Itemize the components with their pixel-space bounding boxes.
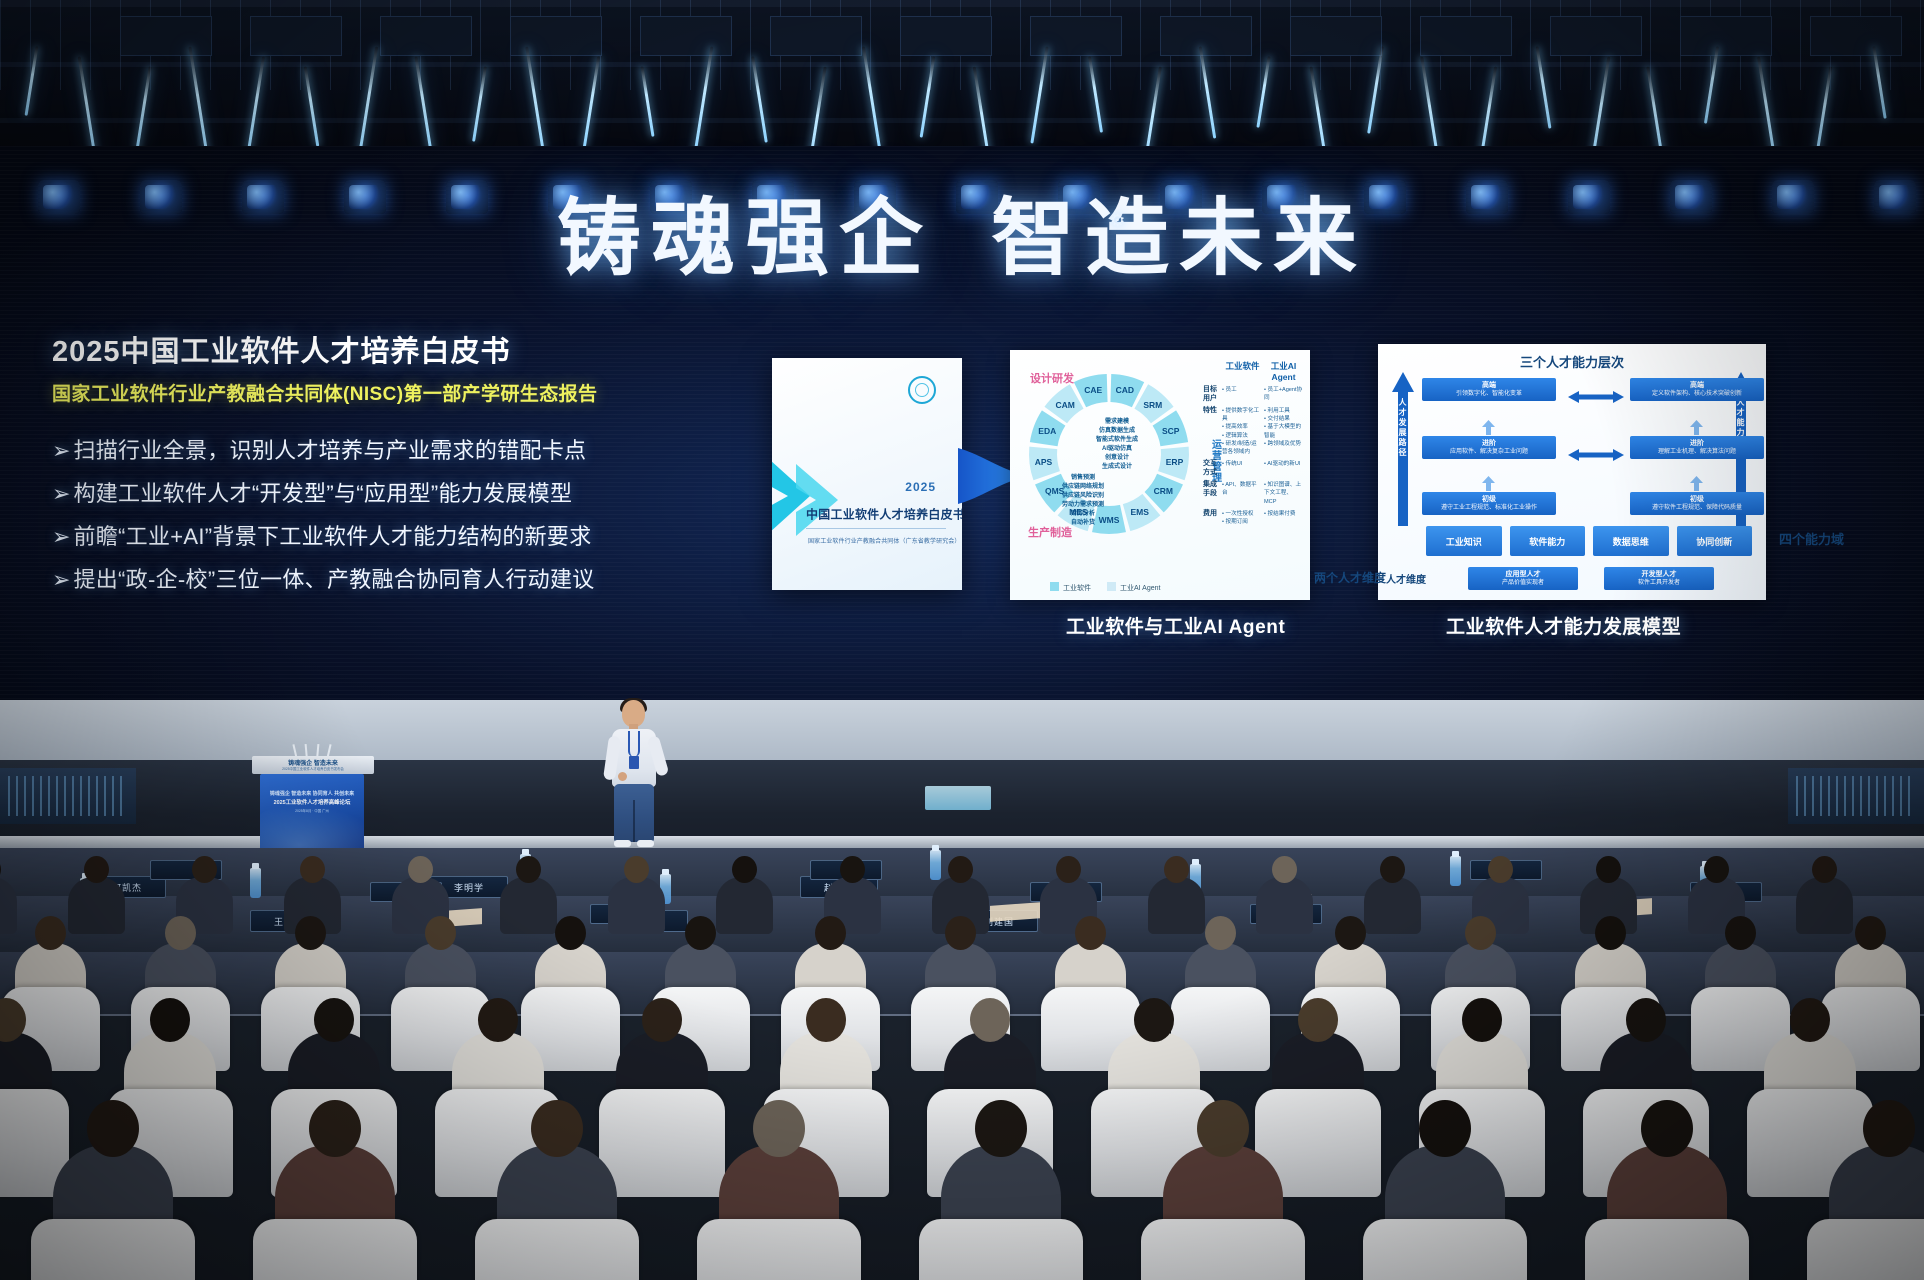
audience-chair [31,1219,195,1280]
audience-head [1298,998,1338,1042]
four-capability-label: 四个能力域 [1779,529,1844,548]
audience-chair [697,1219,861,1280]
audience-head [1272,856,1297,883]
slide-bullet-text: 前瞻“工业+AI”背景下工业软件人才能力结构的新要求 [73,522,591,552]
speaker-badge [629,756,639,769]
slide-title: 2025中国工业软件人才培养白皮书 [52,328,612,370]
compare-column-header: 工业AI Agent [1263,360,1304,382]
audience-chair [1141,1219,1305,1280]
audience-head [1488,856,1513,883]
tier-right: 初级遵守软件工程规范、保障代码质量 [1630,492,1764,515]
audience-head [1462,998,1502,1042]
donut-segment-label: APS [1032,457,1054,467]
audience-head [1380,856,1405,883]
tier-desc: 应用软件、解决复杂工业问题 [1424,448,1554,456]
slide-bullet: ➢构建工业软件人才“开发型”与“应用型”能力发展模型 [52,479,612,509]
audience-head [1197,1100,1249,1157]
tier-level: 高端 [1632,381,1762,390]
tier-up-arrow-icon [1482,476,1495,491]
compare-row-key: 特性 [1200,407,1220,456]
figure-talent-capability-model: 三个人才能力层次 人才发展路径 人才能力维度 高端引领数字化、智能化变革进阶应用… [1378,344,1766,600]
slide-bullet-text: 扫描行业全景，识别人才培养与产业需求的错配卡点 [73,436,586,466]
figure-industrial-software-ai-agent: 设计研发 生产制造 运营管理 需求建模仿真数据生成智能式软件生成AI驱动仿真创意… [1010,350,1310,600]
audience-head [1134,998,1174,1042]
audience-chair [1363,1219,1527,1280]
capability-box: 协同创新 [1677,526,1753,556]
compare-cell-agent: • 员工+Agent协同 [1262,386,1304,403]
audience-head [1863,1100,1915,1157]
tier-left: 进阶应用软件、解决复杂工业问题 [1422,436,1556,459]
audience-head [1790,998,1830,1042]
audience-head [531,1100,583,1157]
audience-head [192,856,217,883]
capability-box: 数据思维 [1593,526,1669,556]
tier-desc: 定义软件架构、核心技术突破创新 [1632,390,1762,398]
capability-box: 软件能力 [1510,526,1586,556]
tier-desc: 遵守工业工程规范、标准化工业操作 [1424,504,1554,512]
stage-small-display [925,786,991,810]
audience-head [314,998,354,1042]
donut-legend-item: 工业AI Agent [1107,582,1160,593]
compare-row-key: 集成手段 [1200,481,1220,506]
whitepaper-book-cover: 2025 中国工业软件人才培养白皮书 国家工业软件行业产教融合共同体（广东省教学… [772,358,962,590]
audience-torso [608,877,665,934]
audience-area: 何凯杰王立坤李明学张文欢赵晓宇刘建国 [0,848,1924,1280]
capability-model-title: 三个人才能力层次 [1378,352,1766,371]
tier-right: 高端定义软件架构、核心技术突破创新 [1630,378,1764,401]
ceiling-truss [0,0,1924,150]
tier-level: 进阶 [1424,439,1554,448]
audience-head [975,1100,1027,1157]
donut-legend: 工业软件工业AI Agent [1050,582,1160,593]
slide-bullet-text: 构建工业软件人才“开发型”与“应用型”能力发展模型 [73,479,572,509]
audience-head [642,998,682,1042]
speaker-lanyard [628,731,640,757]
compare-row: 集成手段• API、数据平台• 知识图谱、上下文工程、MCP [1200,481,1304,506]
name-card-text: 李明学 [454,881,484,894]
figure-b-caption: 工业软件人才能力发展模型 [1446,612,1681,639]
speaker-head [622,700,645,727]
donut-segment-label: CAM [1054,400,1076,410]
presentation-slide: 2025中国工业软件人才培养白皮书 国家工业软件行业产教融合共同体(NISC)第… [0,300,1924,720]
slide-bullet: ➢提出“政-企-校”三位一体、产教融合协同育人行动建议 [52,565,612,595]
compare-cell-software: • 传统UI [1220,460,1262,477]
compare-row: 目标用户• 员工• 员工+Agent协同 [1200,386,1304,403]
talent-dimension-row: 人才维度 应用型人才产品价值实现者开发型人才软件工具开发者 [1386,564,1752,592]
stage-side-panel-left [0,768,136,824]
talent-dimension-box: 开发型人才软件工具开发者 [1604,567,1714,590]
tier-right: 进阶理解工业机理、解决算法问题 [1630,436,1764,459]
compare-row: 特性• 提供数字化工具• 提高效率• 逻辑算法• 研发/制造/运营各领域内• 利… [1200,407,1304,456]
bullet-arrow-icon: ➢ [52,522,70,552]
talent-dimension-box: 应用型人才产品价值实现者 [1468,567,1578,590]
dimension-name: 开发型人才 [1604,570,1714,579]
compare-row-key: 目标用户 [1200,386,1220,403]
speaker-on-stage [598,700,670,850]
audience-torso [1256,877,1313,934]
compare-cell-agent: • 知识图谱、上下文工程、MCP [1262,481,1304,506]
donut-legend-item: 工业软件 [1050,582,1091,593]
donut-segment-label: CRM [1152,486,1174,496]
compare-cell-agent: • 利用工具• 交付结果• 基于大模型的智能• 跨领域及优势 [1262,407,1304,456]
donut-segment-label: EDA [1036,426,1058,436]
podium-line-3: 2025年8月 · 中国 广州 [260,808,364,813]
audience-head [1812,856,1837,883]
figure-a-caption: 工业软件与工业AI Agent [1066,612,1285,639]
dimension-row-label: 人才维度 [1386,571,1442,586]
tier-desc: 理解工业机理、解决算法问题 [1632,448,1762,456]
tier-left: 初级遵守工业工程规范、标准化工业操作 [1422,492,1556,515]
audience-head [753,1100,805,1157]
slide-bullet: ➢前瞻“工业+AI”背景下工业软件人才能力结构的新要求 [52,522,612,552]
stage-side-panel-right [1788,768,1924,824]
slide-subtitle: 国家工业软件行业产教融合共同体(NISC)第一部产学研生态报告 [52,379,612,406]
tier-left: 高端引领数字化、智能化变革 [1422,378,1556,401]
book-year: 2025 [905,480,936,494]
tier-up-arrow-icon [1690,476,1703,491]
conference-stage-photo: 铸魂强企 智造未来 ⚙ 2025中国工业软件人才培养白皮书 国家工业软件行业产教… [0,0,1924,1280]
dimension-desc: 软件工具开发者 [1604,579,1714,587]
donut-segment-label: ERP [1164,457,1186,467]
audience-head [1419,1100,1471,1157]
podium-top-subtitle: 2025中国工业软件人才培养白皮书发布会 [252,766,374,771]
donut-segment-label: MES [1067,507,1089,517]
audience-head [1704,856,1729,883]
gear-icon: ⚙ [1110,212,1127,229]
compare-cell-software: • 提供数字化工具• 提高效率• 逻辑算法• 研发/制造/运营各领域内 [1220,407,1262,456]
axis-development-path: 人才发展路径 [1392,372,1414,526]
water-bottle [1450,856,1461,886]
tier-level: 初级 [1632,495,1762,504]
donut-segment-label: WMS [1098,515,1120,525]
headline-right: 智造未来 [991,196,1367,280]
audience-head [300,856,325,883]
dimension-name: 应用型人才 [1468,570,1578,579]
audience-member [608,856,665,940]
compare-column-header: 工业软件 [1222,360,1263,382]
audience-head [478,998,518,1042]
audience-chair [1585,1219,1749,1280]
donut-segment-label: CAD [1114,385,1136,395]
compare-cell-agent: • AI驱动的新UI [1262,460,1304,477]
donut-segment-label: QMS [1044,486,1066,496]
audience-head [806,998,846,1042]
tier-desc: 遵守软件工程规范、保障代码质量 [1632,504,1762,512]
donut-segment-label: SRM [1142,400,1164,410]
capability-donut-chart: 设计研发 生产制造 运营管理 需求建模仿真数据生成智能式软件生成AI驱动仿真创意… [1016,356,1202,556]
audience-head [309,1100,361,1157]
tier-link-arrow-icon [1568,448,1624,460]
audience-chair [253,1219,417,1280]
audience-head [87,1100,139,1157]
compare-row-key: 交互方式 [1200,460,1220,477]
donut-label-design: 设计研发 [1030,370,1074,386]
book-organization: 国家工业软件行业产教融合共同体（广东省教学研究会） [808,536,948,545]
software-vs-agent-table: 工业软件工业AI Agent 目标用户• 员工• 员工+Agent协同特性• 提… [1200,360,1304,526]
compare-cell-software: • 一次性授权• 按期订阅 [1220,510,1262,526]
bullet-arrow-icon: ➢ [52,436,70,466]
tier-up-arrow-icon [1690,420,1703,435]
stage-headline: 铸魂强企 智造未来 [0,196,1924,280]
audience-head [624,856,649,883]
compare-cell-agent: • 按结果付费 [1262,510,1304,526]
compare-row: 费用• 一次性授权• 按期订阅• 按结果付费 [1200,510,1304,526]
audience-head [408,856,433,883]
audience-head [948,856,973,883]
bullet-arrow-icon: ➢ [52,479,70,509]
donut-core-design-text: 需求建模仿真数据生成智能式软件生成AI驱动仿真创意设计生成式设计 [1080,418,1154,472]
audience-head [840,856,865,883]
speaker-jeans [614,784,654,842]
two-dimension-label: 两个人才维度 [1314,569,1386,586]
slide-text-block: 2025中国工业软件人才培养白皮书 国家工业软件行业产教融合共同体(NISC)第… [52,328,612,608]
tier-level: 初级 [1424,495,1554,504]
dimension-desc: 产品价值实现者 [1468,579,1578,587]
audience-head [1596,856,1621,883]
slide-bullet-text: 提出“政-企-校”三位一体、产教融合协同育人行动建议 [73,565,594,595]
bullet-arrow-icon: ➢ [52,565,70,595]
audience-head [150,998,190,1042]
tier-level: 进阶 [1632,439,1762,448]
tier-level: 高端 [1424,381,1554,390]
slide-bullet: ➢扫描行业全景，识别人才培养与产业需求的错配卡点 [52,436,612,466]
compare-cell-software: • API、数据平台 [1220,481,1262,506]
water-bottle [250,868,261,898]
headline-left: 铸魂强企 [557,196,933,280]
audience-head [732,856,757,883]
donut-segment-label: EMS [1129,507,1151,517]
donut-segment-label: CAE [1082,385,1104,395]
seal-icon [908,376,936,404]
compare-row: 交互方式• 传统UI• AI驱动的新UI [1200,460,1304,477]
audience-head [970,998,1010,1042]
audience-head [516,856,541,883]
slide-bullet-list: ➢扫描行业全景，识别人才培养与产业需求的错配卡点➢构建工业软件人才“开发型”与“… [52,436,612,595]
audience-head [84,856,109,883]
book-title: 中国工业软件人才培养白皮书 [806,505,938,522]
axis-left-label: 人才发展路径 [1396,398,1409,458]
capability-domain-row: 工业知识软件能力数据思维协同创新 [1426,526,1752,556]
tier-desc: 引领数字化、智能化变革 [1424,390,1554,398]
donut-segment-label: SCP [1160,426,1182,436]
tier-link-arrow-icon [1568,390,1624,402]
audience-member [1256,856,1313,940]
audience-head [1641,1100,1693,1157]
podium-line-2: 2025工业软件人才培养高峰论坛 [260,798,364,806]
audience-head [1626,998,1666,1042]
audience-head [1164,856,1189,883]
podium: 铸魂强企 智造未来 2025中国工业软件人才培养白皮书发布会 铸魂强企 智造未来… [252,744,374,864]
audience-chair [1807,1219,1924,1280]
podium-line-1: 铸魂强企 智造未来 协同育人 共创未来 [260,790,364,797]
audience-chair [599,1089,725,1197]
audience-head [1056,856,1081,883]
compare-cell-software: • 员工 [1220,386,1262,403]
audience-chair [919,1219,1083,1280]
compare-row-key: 费用 [1200,510,1220,526]
capability-box: 工业知识 [1426,526,1502,556]
audience-chair [475,1219,639,1280]
tier-up-arrow-icon [1482,420,1495,435]
